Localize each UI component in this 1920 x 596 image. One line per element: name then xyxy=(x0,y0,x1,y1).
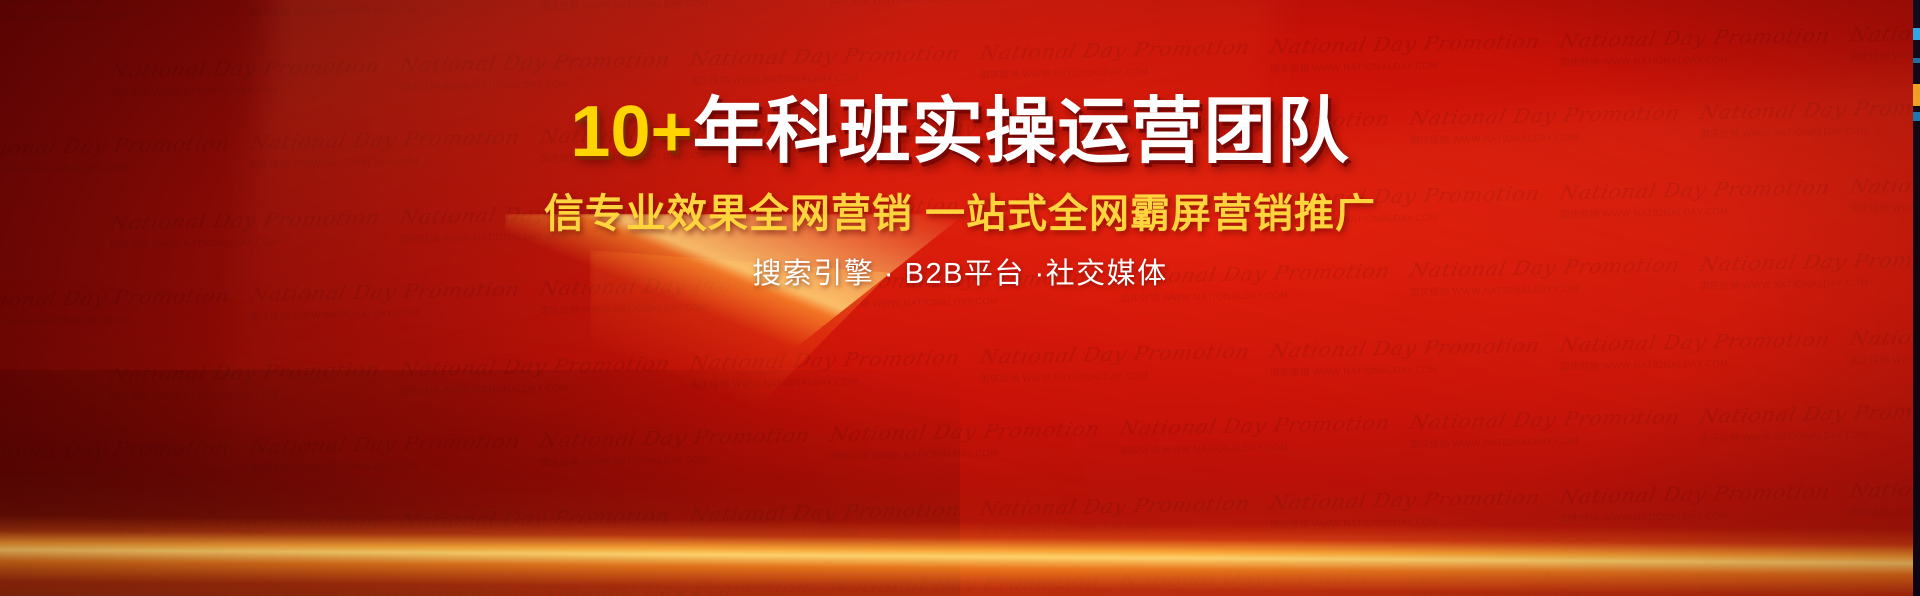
headline-text: 年科班实操运营团队 xyxy=(693,92,1350,172)
headline: 10+年科班实操运营团队 xyxy=(0,96,1920,168)
edge-pixel-blue-3 xyxy=(1913,112,1920,121)
edge-pixel-orange xyxy=(1913,84,1920,106)
copy-block: 10+年科班实操运营团队 信专业效果全网营销 一站式全网霸屏营销推广 搜索引擎 … xyxy=(0,96,1920,289)
headline-number: 10+ xyxy=(570,92,692,172)
subheadline: 信专业效果全网营销 一站式全网霸屏营销推广 xyxy=(0,194,1920,234)
edge-pixel-blue-2 xyxy=(1913,58,1920,63)
tagline: 搜索引擎 · B2B平台 ·社交媒体 xyxy=(0,260,1920,289)
background-vignette xyxy=(0,0,1920,596)
promo-banner: National Day Promotion国庆促销 WWW.NATIONALD… xyxy=(0,0,1920,596)
edge-pixel-blue-1 xyxy=(1913,28,1920,40)
right-edge-strip xyxy=(1913,0,1920,596)
